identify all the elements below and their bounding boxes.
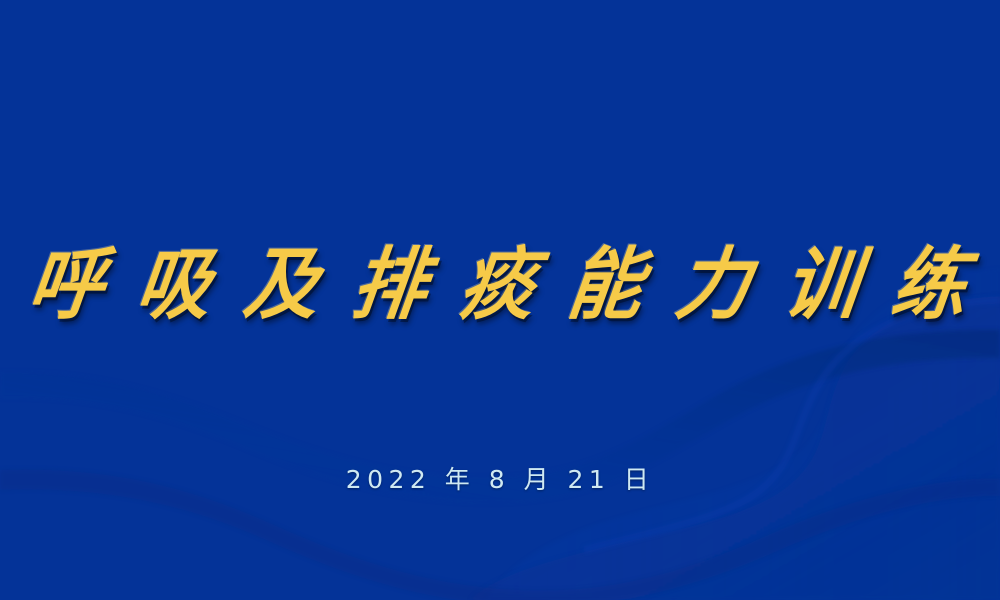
date-block: 2022 年 8 月 21 日: [0, 460, 1000, 496]
title-block: 呼 吸 及 排 痰 能 力 训 练: [0, 248, 1000, 322]
title-slide: 呼 吸 及 排 痰 能 力 训 练 2022 年 8 月 21 日: [0, 0, 1000, 600]
page-title: 呼 吸 及 排 痰 能 力 训 练: [25, 246, 976, 324]
slide-date: 2022 年 8 月 21 日: [346, 460, 655, 496]
